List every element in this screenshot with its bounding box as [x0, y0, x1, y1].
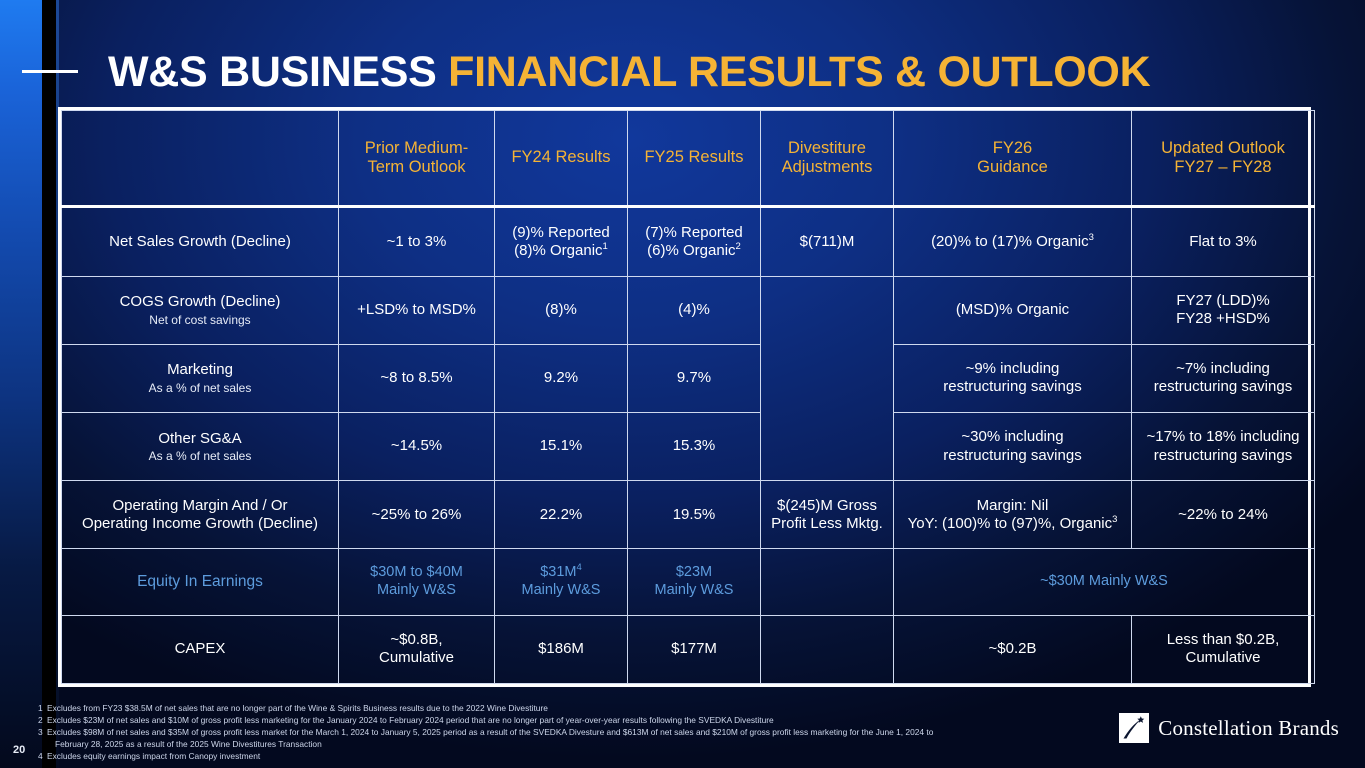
cell-equity-prior-line2: Mainly W&S: [377, 582, 456, 598]
cell-capex-divestiture-empty: [761, 615, 894, 683]
footnote-1: 1Excludes from FY23 $38.5M of net sales …: [38, 702, 1128, 714]
cell-net-sales-fy25: (7)% Reported (6)% Organic2: [628, 207, 761, 277]
cell-equity-fy25: $23M Mainly W&S: [628, 549, 761, 615]
cell-capex-updated-line1: Less than $0.2B,: [1167, 631, 1280, 648]
header-cell-prior-outlook: Prior Medium- Term Outlook: [339, 111, 495, 207]
cell-net-sales-fy24-line1: (9)% Reported: [512, 224, 610, 241]
slide: W&S BUSINESS FINANCIAL RESULTS & OUTLOOK…: [0, 0, 1365, 768]
cell-cogs-fy24: (8)%: [495, 276, 628, 344]
header-cell-divestiture: Divestiture Adjustments: [761, 111, 894, 207]
cell-other-sga-fy24: 15.1%: [495, 413, 628, 481]
cell-operating-margin-divestiture-line2: Profit Less Mktg.: [771, 515, 883, 532]
header-cell-updated-outlook: Updated Outlook FY27 – FY28: [1132, 111, 1315, 207]
row-label-operating-margin: Operating Margin And / Or Operating Inco…: [62, 481, 339, 549]
left-black-bar: [42, 0, 56, 768]
cell-divestiture-empty-span: [761, 276, 894, 481]
header-divestiture-line1: Divestiture: [788, 139, 866, 157]
footnote-2-number: 2: [38, 714, 47, 726]
cell-marketing-updated-line2: restructuring savings: [1154, 378, 1292, 395]
cell-operating-margin-prior-outlook: ~25% to 26%: [339, 481, 495, 549]
footnote-4-text: Excludes equity earnings impact from Can…: [47, 751, 260, 761]
cell-operating-margin-fy24: 22.2%: [495, 481, 628, 549]
row-label-cogs-sub: Net of cost savings: [67, 313, 333, 328]
cell-other-sga-fy26: ~30% including restructuring savings: [894, 413, 1132, 481]
cell-other-sga-updated-outlook: ~17% to 18% including restructuring savi…: [1132, 413, 1315, 481]
footnote-3-continuation: February 28, 2025 as a result of the 202…: [38, 738, 1128, 750]
cell-net-sales-fy24-line2: (8)% Organic: [514, 242, 602, 259]
cell-marketing-updated-line1: ~7% including: [1176, 360, 1270, 377]
cell-cogs-fy26: (MSD)% Organic: [894, 276, 1132, 344]
cell-net-sales-divestiture: $(711)M: [761, 207, 894, 277]
cell-cogs-updated-line2: FY28 +HSD%: [1176, 310, 1270, 327]
table-row: COGS Growth (Decline) Net of cost saving…: [62, 276, 1315, 344]
header-cell-fy26: FY26 Guidance: [894, 111, 1132, 207]
row-label-cogs-main: COGS Growth (Decline): [120, 293, 281, 310]
cell-net-sales-updated-outlook: Flat to 3%: [1132, 207, 1315, 277]
table-row: Equity In Earnings $30M to $40M Mainly W…: [62, 549, 1315, 615]
header-fy26-line1: FY26: [993, 139, 1032, 157]
cell-equity-prior-outlook: $30M to $40M Mainly W&S: [339, 549, 495, 615]
row-label-marketing-sub: As a % of net sales: [67, 381, 333, 396]
cell-other-sga-prior-outlook: ~14.5%: [339, 413, 495, 481]
brand-logo-text: Constellation Brands: [1158, 716, 1339, 741]
footnote-ref-3b: 3: [1112, 514, 1117, 525]
cell-equity-fy24-line1: $31M: [540, 564, 576, 580]
footnote-3-text: Excludes $98M of net sales and $35M of g…: [47, 727, 933, 737]
cell-capex-prior-outlook: ~$0.8B, Cumulative: [339, 615, 495, 683]
title-dash-decoration: [22, 70, 78, 73]
cell-equity-fy24: $31M4 Mainly W&S: [495, 549, 628, 615]
cell-cogs-fy25: (4)%: [628, 276, 761, 344]
brand-logo: Constellation Brands: [1119, 713, 1339, 743]
table-row: Marketing As a % of net sales ~8 to 8.5%…: [62, 344, 1315, 412]
page-title-accent: FINANCIAL RESULTS & OUTLOOK: [448, 48, 1150, 96]
cell-capex-fy26: ~$0.2B: [894, 615, 1132, 683]
cell-other-sga-fy26-line1: ~30% including: [961, 428, 1063, 445]
cell-equity-divestiture-empty: [761, 549, 894, 615]
footnote-2-text: Excludes $23M of net sales and $10M of g…: [47, 715, 774, 725]
cell-net-sales-fy25-line2: (6)% Organic: [647, 242, 735, 259]
cell-cogs-prior-outlook: +LSD% to MSD%: [339, 276, 495, 344]
table-header-row: Prior Medium- Term Outlook FY24 Results …: [62, 111, 1315, 207]
table-row: Operating Margin And / Or Operating Inco…: [62, 481, 1315, 549]
cell-operating-margin-divestiture: $(245)M Gross Profit Less Mktg.: [761, 481, 894, 549]
cell-marketing-fy25: 9.7%: [628, 344, 761, 412]
constellation-star-icon: [1119, 713, 1149, 743]
cell-marketing-fy24: 9.2%: [495, 344, 628, 412]
row-label-marketing: Marketing As a % of net sales: [62, 344, 339, 412]
header-prior-line1: Prior Medium-: [365, 139, 469, 157]
footnote-1-number: 1: [38, 702, 47, 714]
footnote-4: 4Excludes equity earnings impact from Ca…: [38, 750, 1128, 762]
cell-operating-margin-fy26-line1: Margin: Nil: [977, 497, 1049, 514]
cell-capex-fy25: $177M: [628, 615, 761, 683]
cell-other-sga-fy26-line2: restructuring savings: [943, 447, 1081, 464]
cell-net-sales-prior-outlook: ~1 to 3%: [339, 207, 495, 277]
cell-equity-prior-line1: $30M to $40M: [370, 564, 463, 580]
financial-results-table: Prior Medium- Term Outlook FY24 Results …: [58, 107, 1311, 687]
cell-operating-margin-updated-outlook: ~22% to 24%: [1132, 481, 1315, 549]
table-grid: Prior Medium- Term Outlook FY24 Results …: [61, 110, 1315, 684]
cell-capex-fy24: $186M: [495, 615, 628, 683]
row-label-operating-margin-line1: Operating Margin And / Or: [112, 497, 287, 514]
cell-marketing-updated-outlook: ~7% including restructuring savings: [1132, 344, 1315, 412]
row-label-net-sales-growth: Net Sales Growth (Decline): [62, 207, 339, 277]
cell-other-sga-updated-line1: ~17% to 18% including: [1146, 428, 1299, 445]
cell-marketing-prior-outlook: ~8 to 8.5%: [339, 344, 495, 412]
cell-equity-fy25-line2: Mainly W&S: [655, 582, 734, 598]
cell-net-sales-fy25-line1: (7)% Reported: [645, 224, 743, 241]
footnote-3-continuation-text: February 28, 2025 as a result of the 202…: [55, 739, 322, 749]
cell-net-sales-fy26: (20)% to (17)% Organic3: [894, 207, 1132, 277]
header-cell-fy25: FY25 Results: [628, 111, 761, 207]
header-prior-line2: Term Outlook: [367, 158, 465, 176]
cell-operating-margin-divestiture-line1: $(245)M Gross: [777, 497, 877, 514]
row-label-operating-margin-line2: Operating Income Growth (Decline): [82, 515, 318, 532]
cell-cogs-updated-outlook: FY27 (LDD)% FY28 +HSD%: [1132, 276, 1315, 344]
cell-net-sales-fy24: (9)% Reported (8)% Organic1: [495, 207, 628, 277]
footnote-4-number: 4: [38, 750, 47, 762]
left-gradient-strip: [0, 0, 42, 768]
footnote-ref-1: 1: [603, 241, 608, 252]
table-row: Net Sales Growth (Decline) ~1 to 3% (9)%…: [62, 207, 1315, 277]
header-cell-fy24: FY24 Results: [495, 111, 628, 207]
cell-capex-prior-line2: Cumulative: [379, 649, 454, 666]
page-title: W&S BUSINESS FINANCIAL RESULTS & OUTLOOK: [108, 50, 1150, 95]
header-cell-metric: [62, 111, 339, 207]
row-label-other-sga-main: Other SG&A: [158, 430, 241, 447]
cell-equity-merged-outlook: ~$30M Mainly W&S: [894, 549, 1315, 615]
cell-equity-fy25-line1: $23M: [676, 564, 712, 580]
row-label-marketing-main: Marketing: [167, 361, 233, 378]
footnote-3-number: 3: [38, 726, 47, 738]
footnote-ref-2: 2: [736, 241, 741, 252]
row-label-other-sga-sub: As a % of net sales: [67, 449, 333, 464]
page-title-primary: W&S BUSINESS: [108, 48, 448, 96]
header-updated-line1: Updated Outlook: [1161, 139, 1285, 157]
footnotes-block: 1Excludes from FY23 $38.5M of net sales …: [38, 702, 1128, 762]
cell-capex-updated-outlook: Less than $0.2B, Cumulative: [1132, 615, 1315, 683]
cell-net-sales-fy26-text: (20)% to (17)% Organic: [931, 233, 1089, 250]
table-row: Other SG&A As a % of net sales ~14.5% 15…: [62, 413, 1315, 481]
row-label-cogs-growth: COGS Growth (Decline) Net of cost saving…: [62, 276, 339, 344]
cell-marketing-fy26-line1: ~9% including: [966, 360, 1060, 377]
footnote-ref-3: 3: [1089, 232, 1094, 243]
footnote-ref-4: 4: [576, 563, 581, 574]
cell-equity-fy24-line2: Mainly W&S: [522, 582, 601, 598]
cell-marketing-fy26-line2: restructuring savings: [943, 378, 1081, 395]
footnote-2: 2Excludes $23M of net sales and $10M of …: [38, 714, 1128, 726]
cell-operating-margin-fy26: Margin: Nil YoY: (100)% to (97)%, Organi…: [894, 481, 1132, 549]
row-label-equity-in-earnings: Equity In Earnings: [62, 549, 339, 615]
cell-marketing-fy26: ~9% including restructuring savings: [894, 344, 1132, 412]
row-label-capex: CAPEX: [62, 615, 339, 683]
table-row: CAPEX ~$0.8B, Cumulative $186M $177M ~$0…: [62, 615, 1315, 683]
cell-capex-prior-line1: ~$0.8B,: [390, 631, 442, 648]
cell-capex-updated-line2: Cumulative: [1185, 649, 1260, 666]
footnote-1-text: Excludes from FY23 $38.5M of net sales t…: [47, 703, 548, 713]
page-number: 20: [13, 744, 25, 756]
row-label-other-sga: Other SG&A As a % of net sales: [62, 413, 339, 481]
cell-cogs-updated-line1: FY27 (LDD)%: [1176, 292, 1269, 309]
footnote-3: 3Excludes $98M of net sales and $35M of …: [38, 726, 1128, 738]
cell-other-sga-fy25: 15.3%: [628, 413, 761, 481]
cell-operating-margin-fy26-line2: YoY: (100)% to (97)%, Organic: [908, 515, 1113, 532]
header-fy26-line2: Guidance: [977, 158, 1048, 176]
cell-other-sga-updated-line2: restructuring savings: [1154, 447, 1292, 464]
header-updated-line2: FY27 – FY28: [1174, 158, 1271, 176]
cell-operating-margin-fy25: 19.5%: [628, 481, 761, 549]
header-divestiture-line2: Adjustments: [782, 158, 873, 176]
